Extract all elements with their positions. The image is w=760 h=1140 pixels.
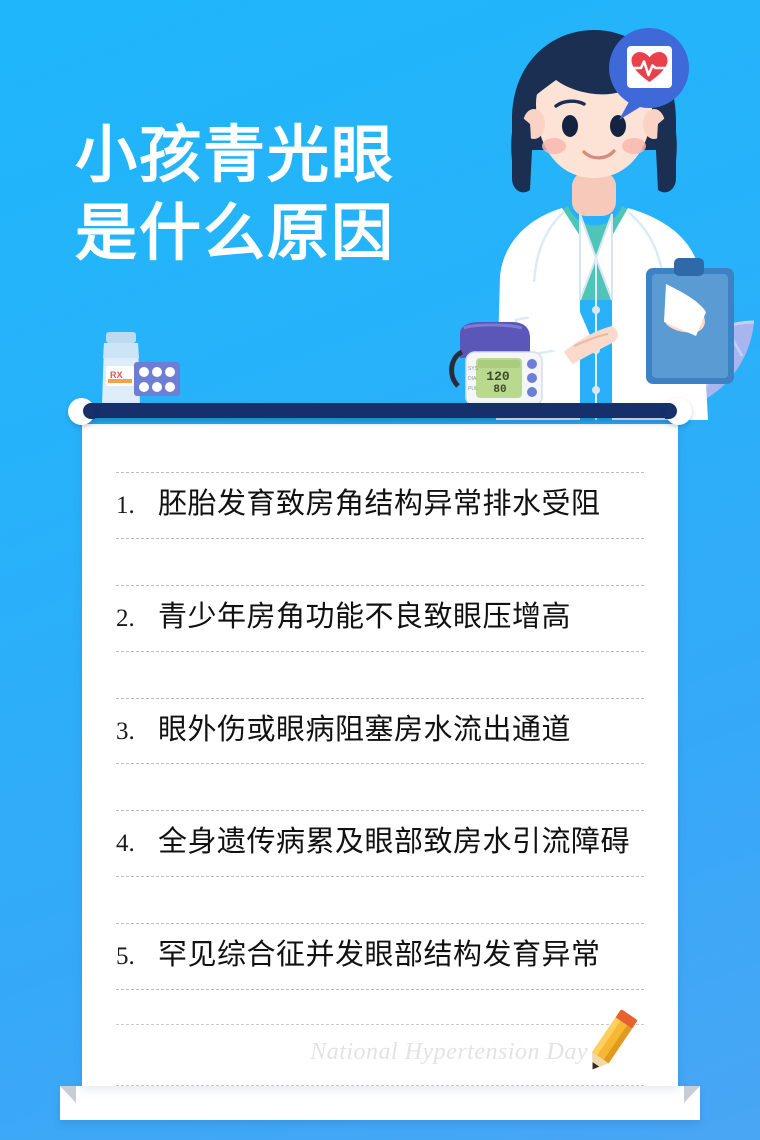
list-item-text: 罕见综合征并发眼部结构发育异常 (158, 938, 601, 973)
heart-ecg-icon (601, 24, 693, 122)
list-item: 2. 青少年房角功能不良致眼压增高 (116, 585, 644, 652)
systolic-value: 120 (486, 369, 510, 384)
bp-monitor: 120 80 SYS DIA PUL (446, 318, 562, 410)
card-foot (60, 1086, 700, 1120)
roll-cap-right (665, 398, 692, 425)
blood-pressure-monitor-icon: 120 80 SYS DIA PUL (446, 318, 562, 410)
list-item-text: 全身遗传病累及眼部致房水引流障碍 (158, 825, 630, 860)
foot-notch-left (60, 1086, 76, 1120)
list-item: 5. 罕见综合征并发眼部结构发育异常 (116, 923, 644, 990)
pencil-glyph (580, 1003, 642, 1081)
list-item-text: 胚胎发育致房角结构异常排水受阻 (158, 487, 601, 522)
content-card: 1. 胚胎发育致房角结构异常排水受阻 2. 青少年房角功能不良致眼压增高 3. … (72, 398, 688, 1120)
list-item-number: 5. (116, 943, 158, 971)
list-item: 3. 眼外伤或眼病阻塞房水流出通道 (116, 698, 644, 765)
svg-text:SYS: SYS (468, 366, 479, 372)
foot-notch-right (684, 1086, 700, 1120)
list-item-text: 青少年房角功能不良致眼压增高 (158, 600, 571, 635)
infographic-poster: 小孩青光眼 是什么原因 (0, 0, 760, 1140)
watermark-row: National Hypertension Day (116, 1024, 644, 1086)
list-item-text: 眼外伤或眼病阻塞房水流出通道 (158, 713, 571, 748)
list-item-number: 4. (116, 830, 158, 858)
roll-cap-left (68, 398, 95, 425)
card-roll-bar (72, 398, 688, 424)
cause-list: 1. 胚胎发育致房角结构异常排水受阻 2. 青少年房角功能不良致眼压增高 3. … (82, 472, 678, 990)
speech-bubble (601, 24, 693, 122)
rx-label: RX (110, 370, 123, 380)
svg-text:DIA: DIA (468, 376, 477, 382)
pencil-icon (580, 1003, 642, 1081)
list-item-number: 3. (116, 718, 158, 746)
page-title: 小孩青光眼 是什么原因 (0, 118, 470, 272)
watermark-text: National Hypertension Day (310, 1039, 588, 1066)
pill-blister-pack (134, 362, 180, 396)
title-line-1: 小孩青光眼 (0, 118, 470, 194)
list-item: 1. 胚胎发育致房角结构异常排水受阻 (116, 472, 644, 539)
title-line-2: 是什么原因 (0, 196, 470, 272)
roll-tube (80, 403, 680, 418)
diastolic-value: 80 (493, 384, 506, 396)
list-item-number: 2. (116, 605, 158, 633)
card-sheet: 1. 胚胎发育致房角结构异常排水受阻 2. 青少年房角功能不良致眼压增高 3. … (82, 424, 678, 1086)
svg-text:PUL: PUL (468, 386, 478, 392)
list-item-number: 1. (116, 492, 158, 520)
list-item: 4. 全身遗传病累及眼部致房水引流障碍 (116, 810, 644, 877)
